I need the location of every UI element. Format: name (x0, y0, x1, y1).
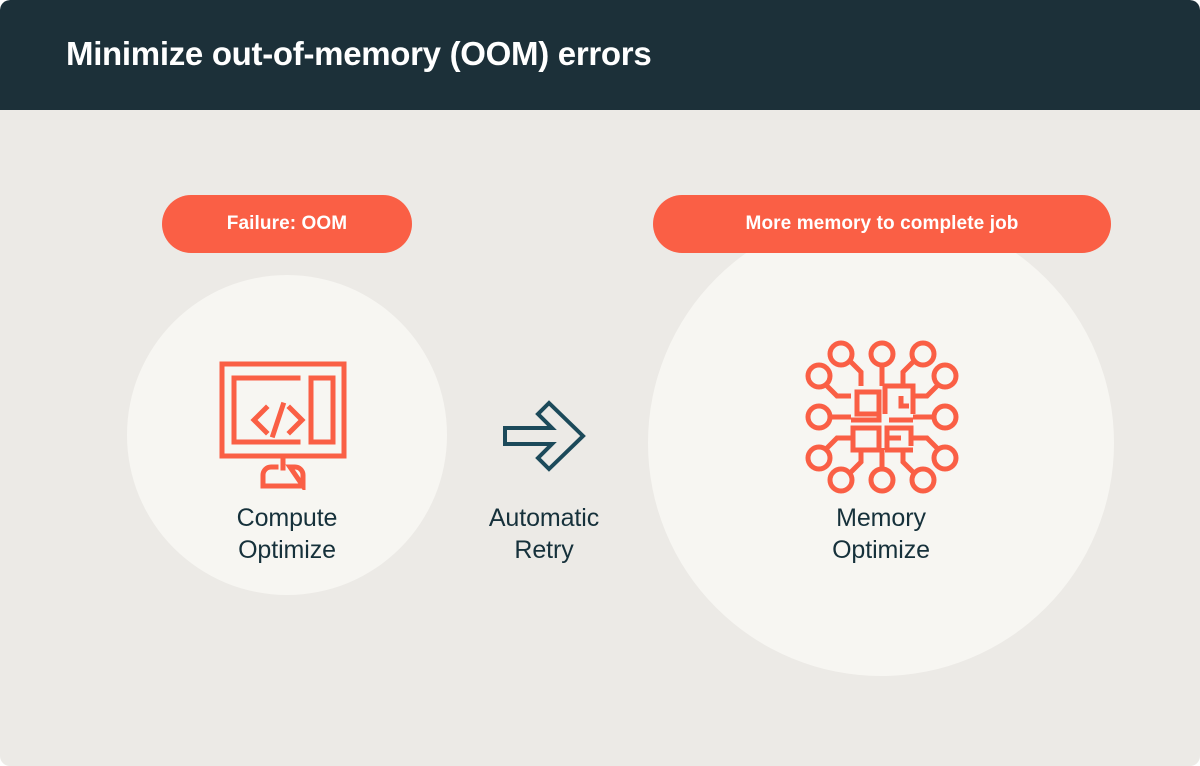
caption-line-2: Retry (444, 534, 644, 566)
failure-oom-badge[interactable]: Failure: OOM (162, 195, 412, 253)
page-title: Minimize out-of-memory (OOM) errors (66, 35, 651, 73)
oom-infographic: Minimize out-of-memory (OOM) errors Comp… (0, 0, 1200, 766)
caption-line-1: Memory (761, 502, 1001, 534)
diagram-stage: Compute Optimize Failure: OOM Automatic … (0, 110, 1200, 766)
code-monitor-icon (218, 360, 358, 490)
caption-line-2: Optimize (167, 534, 407, 566)
more-memory-badge[interactable]: More memory to complete job (653, 195, 1111, 253)
arrow-right-icon (500, 400, 588, 472)
header-bar: Minimize out-of-memory (OOM) errors (0, 0, 1200, 110)
compute-optimize-caption: Compute Optimize (167, 502, 407, 566)
caption-line-1: Compute (167, 502, 407, 534)
caption-line-1: Automatic (444, 502, 644, 534)
circuit-chip-icon (803, 338, 961, 496)
caption-line-2: Optimize (761, 534, 1001, 566)
automatic-retry-caption: Automatic Retry (444, 502, 644, 566)
memory-optimize-caption: Memory Optimize (761, 502, 1001, 566)
